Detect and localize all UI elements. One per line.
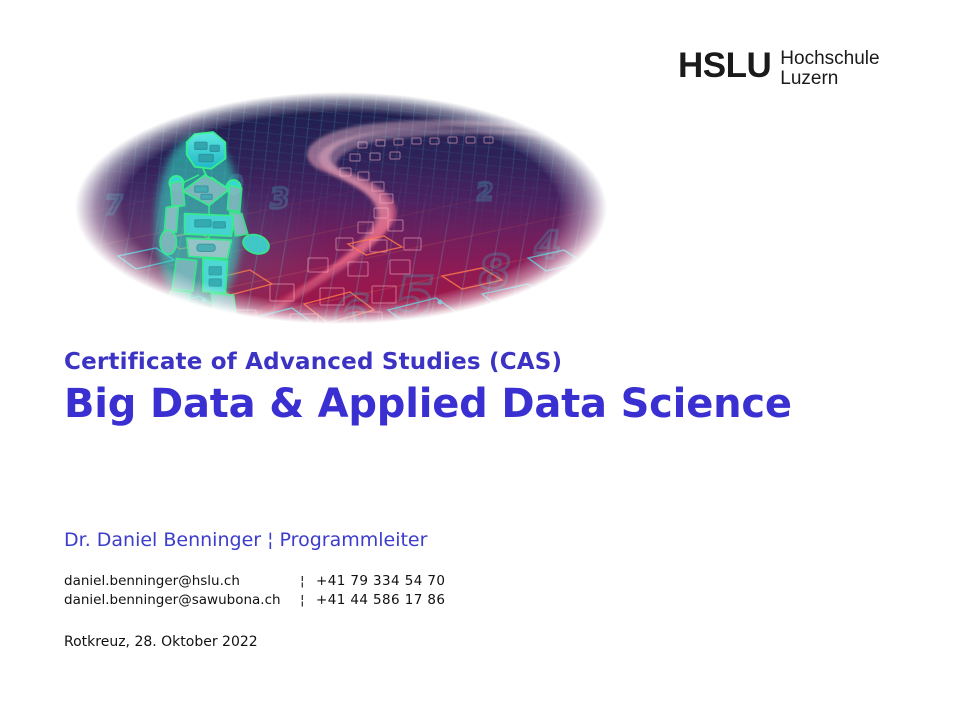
- hslu-logo-wordmark: Hochschule Luzern: [780, 49, 879, 88]
- presenter-name-role: Dr. Daniel Benninger ¦ Programmleiter: [64, 528, 624, 552]
- svg-text:5: 5: [387, 265, 442, 332]
- contact-phone[interactable]: +41 44 586 17 86: [316, 591, 445, 610]
- hero-illustration-canvas: 5 8 4 6 7 3 2 9: [58, 82, 624, 334]
- hero-vector-art: 5 8 4 6 7 3 2 9: [58, 82, 624, 334]
- svg-text:7: 7: [103, 191, 124, 221]
- hero-robot: [156, 132, 271, 334]
- page-title: Big Data & Applied Data Science: [64, 379, 944, 429]
- contact-email[interactable]: daniel.benninger@hslu.ch: [64, 572, 300, 591]
- contact-separator: ¦: [300, 572, 316, 591]
- svg-text:2: 2: [475, 178, 495, 206]
- title-block: Certificate of Advanced Studies (CAS) Bi…: [64, 348, 944, 429]
- hero-illustration: 5 8 4 6 7 3 2 9: [58, 82, 624, 334]
- contact-block: Dr. Daniel Benninger ¦ Programmleiter da…: [64, 528, 624, 652]
- contact-phone[interactable]: +41 79 334 54 70: [316, 572, 445, 591]
- contact-row: daniel.benninger@hslu.ch ¦ +41 79 334 54…: [64, 572, 624, 591]
- title-slide: HSLU Hochschule Luzern: [0, 0, 960, 720]
- svg-text:4: 4: [531, 224, 564, 268]
- program-subtitle: Certificate of Advanced Studies (CAS): [64, 348, 944, 377]
- contact-details: daniel.benninger@hslu.ch ¦ +41 79 334 54…: [64, 572, 624, 610]
- hslu-logo-line-1: Hochschule: [780, 49, 879, 69]
- hslu-logo-mark: HSLU: [678, 48, 771, 84]
- contact-separator: ¦: [300, 591, 316, 610]
- svg-text:6: 6: [326, 285, 375, 334]
- svg-text:8: 8: [474, 245, 515, 299]
- hslu-logo-line-2: Luzern: [780, 69, 879, 89]
- svg-text:3: 3: [268, 182, 292, 215]
- contact-email[interactable]: daniel.benninger@sawubona.ch: [64, 591, 300, 610]
- contact-row: daniel.benninger@sawubona.ch ¦ +41 44 58…: [64, 591, 624, 610]
- hslu-logo: HSLU Hochschule Luzern: [678, 48, 880, 88]
- place-and-date: Rotkreuz, 28. Oktober 2022: [64, 632, 624, 652]
